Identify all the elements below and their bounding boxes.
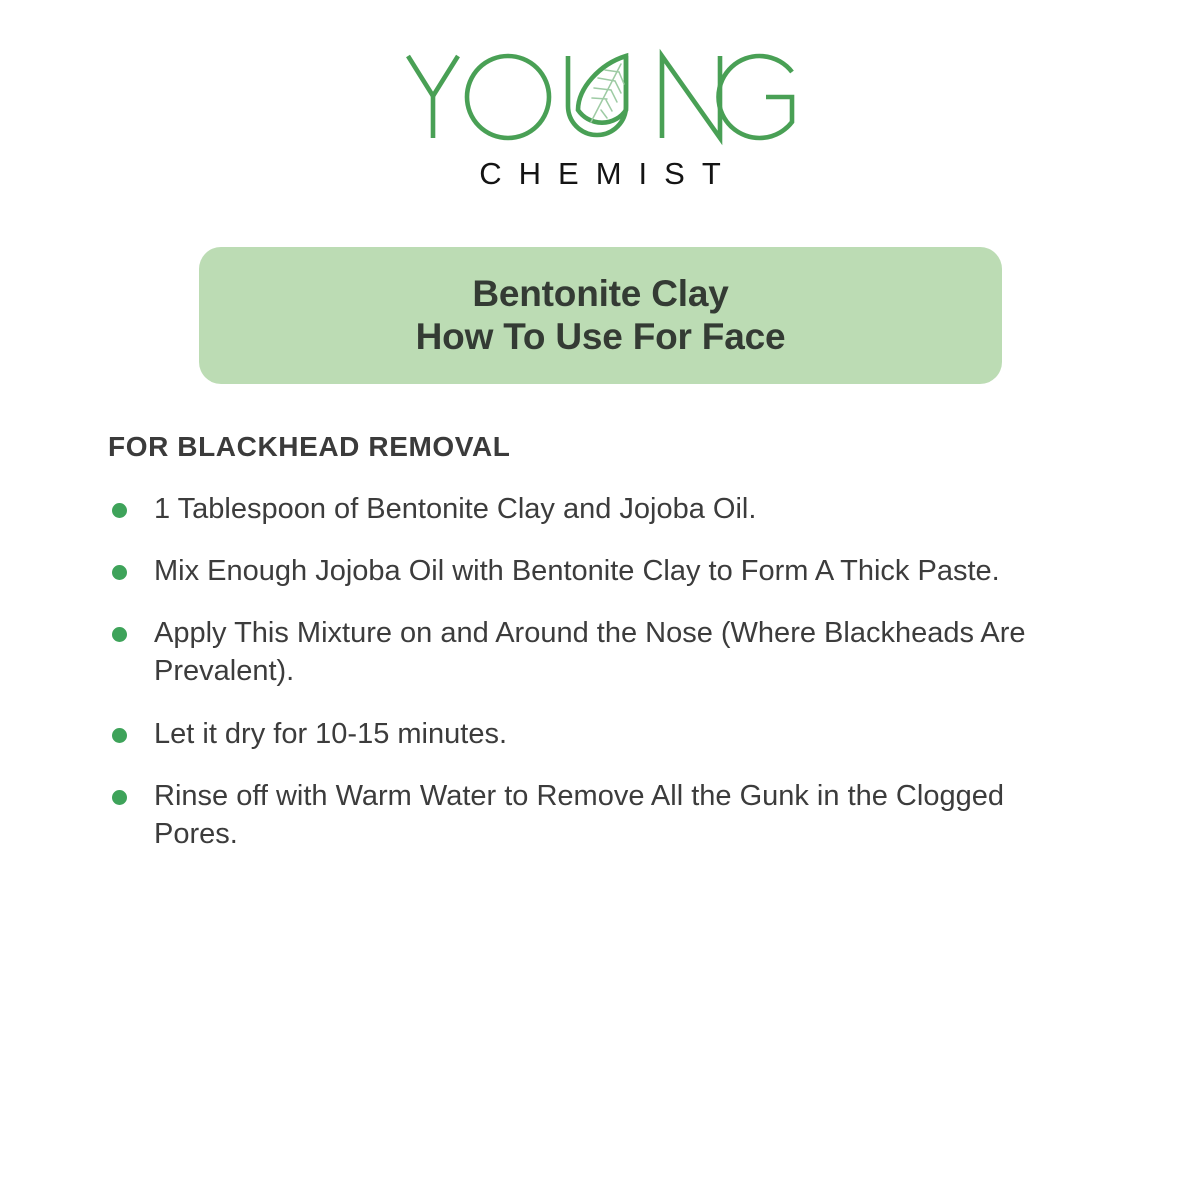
brand-wordmark-young (400, 48, 800, 146)
banner-title-line-2: How To Use For Face (416, 316, 786, 359)
bullet-dot-icon (112, 627, 127, 642)
list-item: Apply This Mixture on and Around the Nos… (108, 614, 1034, 691)
letter-g (719, 56, 792, 138)
list-item-text: Let it dry for 10-15 minutes. (154, 715, 1034, 753)
young-lettering-svg (400, 48, 800, 146)
brand-logo: CHEMIST (0, 48, 1200, 189)
list-item-text: Apply This Mixture on and Around the Nos… (154, 614, 1034, 691)
list-item-text: Mix Enough Jojoba Oil with Bentonite Cla… (154, 552, 1034, 590)
poster-page: CHEMIST Bentonite Clay How To Use For Fa… (0, 0, 1200, 1200)
list-item-text: Rinse off with Warm Water to Remove All … (154, 777, 1034, 854)
bullet-dot-icon (112, 503, 127, 518)
bullet-dot-icon (112, 728, 127, 743)
list-item: 1 Tablespoon of Bentonite Clay and Jojob… (108, 490, 1034, 528)
title-banner: Bentonite Clay How To Use For Face (199, 247, 1002, 384)
content-section: FOR BLACKHEAD REMOVAL 1 Tablespoon of Be… (108, 430, 1068, 853)
banner-title-line-1: Bentonite Clay (472, 273, 728, 316)
letter-y-arms (408, 56, 458, 96)
instruction-list: 1 Tablespoon of Bentonite Clay and Jojob… (108, 490, 1068, 854)
list-item: Mix Enough Jojoba Oil with Bentonite Cla… (108, 552, 1034, 590)
list-item-text: 1 Tablespoon of Bentonite Clay and Jojob… (154, 490, 1034, 528)
letter-o (467, 56, 549, 138)
brand-subtitle-chemist: CHEMIST (462, 158, 738, 189)
list-item: Rinse off with Warm Water to Remove All … (108, 777, 1034, 854)
bullet-dot-icon (112, 790, 127, 805)
bullet-dot-icon (112, 565, 127, 580)
leaf-icon (578, 56, 626, 123)
section-heading: FOR BLACKHEAD REMOVAL (108, 430, 1068, 464)
letter-n (662, 56, 720, 138)
list-item: Let it dry for 10-15 minutes. (108, 715, 1034, 753)
